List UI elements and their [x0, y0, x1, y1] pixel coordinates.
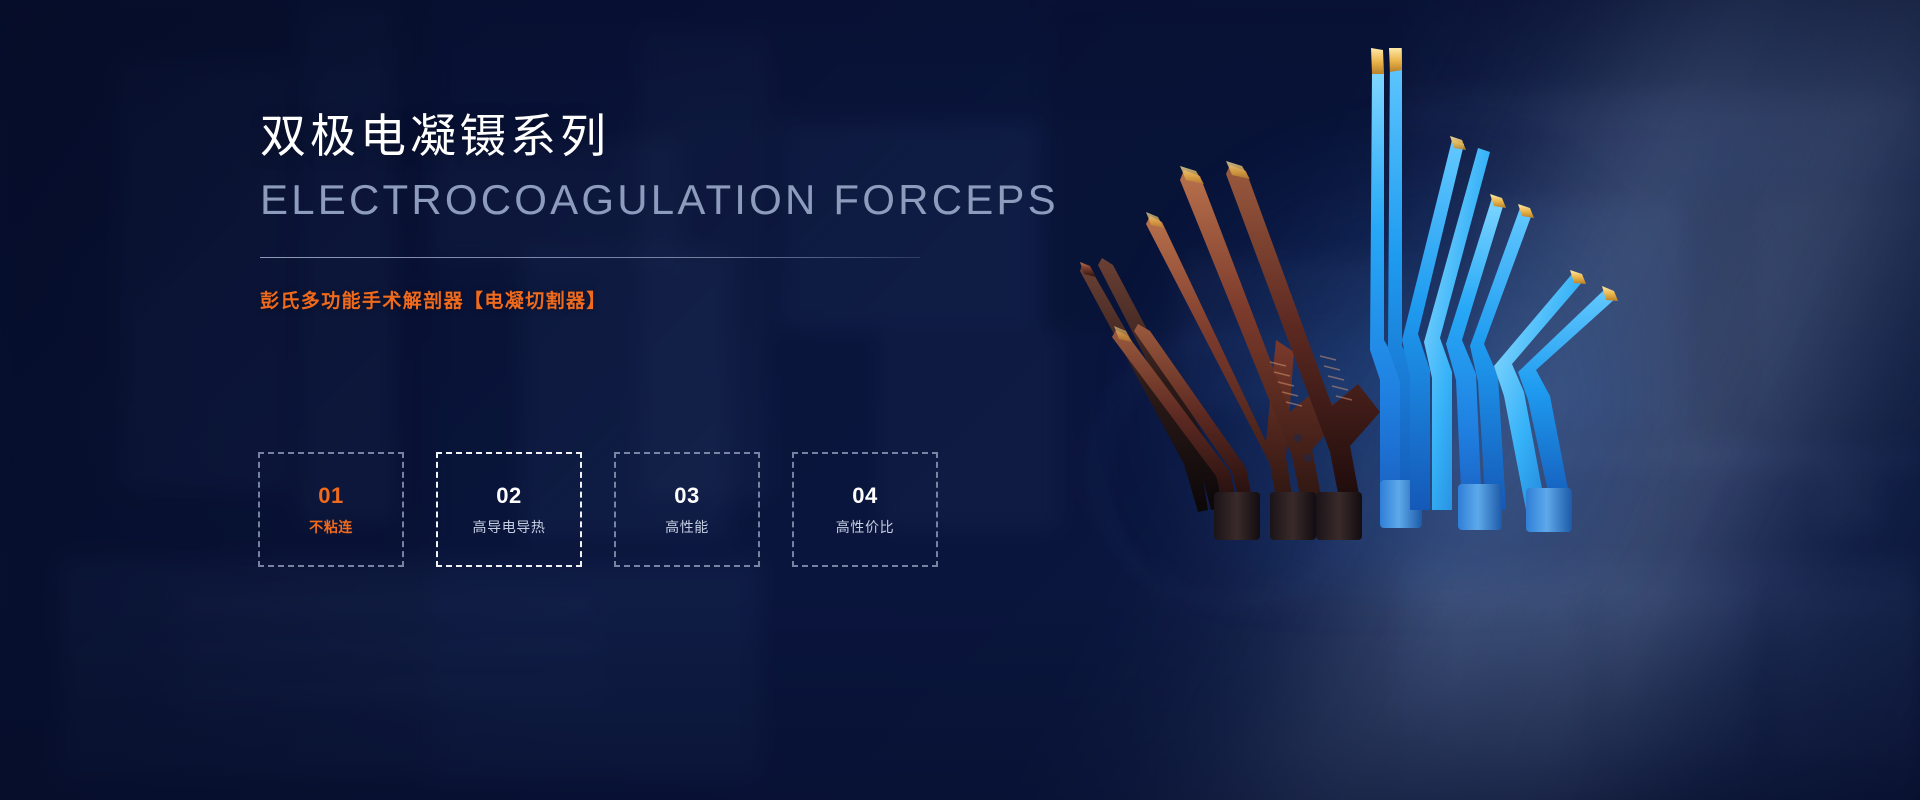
- banner-copy: 双极电凝镊系列 ELECTROCOAGULATION FORCEPS 彭氏多功能…: [260, 108, 1090, 313]
- forceps-blue-4: [1494, 270, 1618, 532]
- feature-label: 高性价比: [836, 520, 894, 534]
- feature-box-01[interactable]: 01 不粘连: [258, 452, 404, 567]
- feature-list: 01 不粘连 02 高导电导热 03 高性能 04 高性价比: [258, 452, 938, 567]
- divider: [260, 257, 920, 258]
- product-banner: 双极电凝镊系列 ELECTROCOAGULATION FORCEPS 彭氏多功能…: [0, 0, 1920, 800]
- page-title: 双极电凝镊系列: [260, 108, 1090, 164]
- feature-number: 02: [496, 485, 521, 507]
- forceps-dark-2: [1112, 324, 1256, 520]
- collar-dark: [1270, 492, 1316, 540]
- feature-label: 高性能: [665, 520, 709, 534]
- forceps-product-image: [1080, 40, 1640, 560]
- page-subtitle-en: ELECTROCOAGULATION FORCEPS: [260, 176, 1090, 223]
- feature-number: 04: [852, 485, 877, 507]
- feature-box-02[interactable]: 02 高导电导热: [436, 452, 582, 567]
- feature-label: 不粘连: [309, 520, 353, 534]
- feature-label: 高导电导热: [473, 520, 546, 534]
- product-tagline: 彭氏多功能手术解剖器【电凝切割器】: [260, 286, 1090, 313]
- feature-box-03[interactable]: 03 高性能: [614, 452, 760, 567]
- collar-dark: [1214, 492, 1260, 540]
- feature-number: 03: [674, 485, 699, 507]
- collar-dark: [1316, 492, 1362, 540]
- feature-number: 01: [318, 485, 343, 507]
- feature-box-04[interactable]: 04 高性价比: [792, 452, 938, 567]
